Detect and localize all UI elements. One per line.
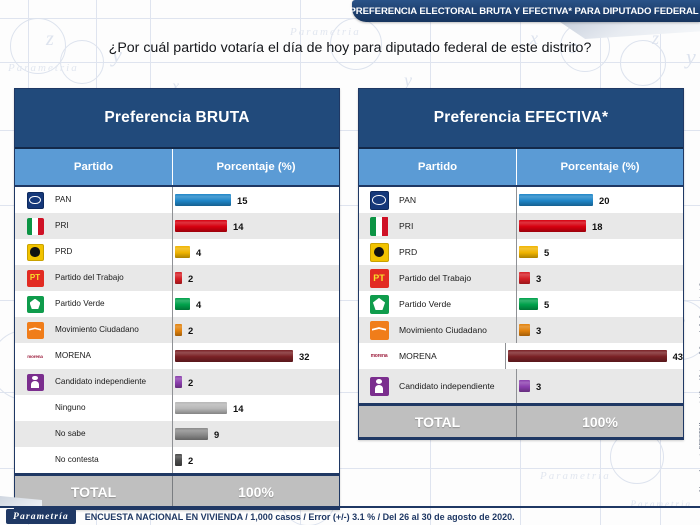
percentage-value: 14 bbox=[233, 403, 243, 414]
cell-porcentaje: 2 bbox=[173, 447, 339, 473]
table-header-row: Partido Porcentaje (%) bbox=[15, 149, 339, 187]
percentage-bar bbox=[519, 324, 530, 336]
cell-partido: PAN bbox=[15, 187, 173, 213]
cell-partido: Partido Verde bbox=[15, 291, 173, 317]
watermark-brand-text: Parametria bbox=[540, 470, 611, 482]
total-value: 100% bbox=[173, 476, 339, 507]
cell-partido: Movimiento Ciudadano bbox=[15, 317, 173, 343]
party-logo bbox=[359, 191, 399, 210]
percentage-value: 3 bbox=[536, 381, 541, 392]
cell-partido: PRI bbox=[359, 213, 517, 239]
party-name-label: MORENA bbox=[55, 351, 93, 361]
party-logo bbox=[359, 377, 399, 396]
percentage-value: 15 bbox=[237, 195, 247, 206]
cell-partido: morenaMORENA bbox=[359, 343, 506, 369]
cell-porcentaje: 14 bbox=[173, 213, 339, 239]
party-name-label: Partido Verde bbox=[399, 299, 453, 309]
cell-partido: PRD bbox=[15, 239, 173, 265]
table-row: Partido Verde5 bbox=[359, 291, 683, 317]
movimiento-ciudadano-logo-icon bbox=[370, 321, 389, 340]
cell-partido: Candidato independiente bbox=[15, 369, 173, 395]
percentage-value: 3 bbox=[536, 325, 541, 336]
pt-logo-icon: PT bbox=[27, 270, 44, 287]
cell-porcentaje: 2 bbox=[173, 369, 339, 395]
party-name-label: No sabe bbox=[55, 429, 88, 439]
no-logo-placeholder bbox=[27, 426, 44, 443]
percentage-value: 18 bbox=[592, 221, 602, 232]
cell-partido: PTPartido del Trabajo bbox=[359, 265, 517, 291]
party-name-label: Partido Verde bbox=[55, 299, 107, 309]
cell-porcentaje: 9 bbox=[173, 421, 339, 447]
table-preferencia-bruta: Preferencia BRUTA Partido Porcentaje (%)… bbox=[14, 88, 340, 510]
cell-porcentaje: 43 bbox=[506, 343, 683, 369]
party-name-label: PRD bbox=[399, 247, 419, 257]
percentage-bar bbox=[175, 272, 182, 284]
percentage-bar bbox=[519, 272, 530, 284]
cell-partido: Candidato independiente bbox=[359, 369, 517, 403]
no-logo-placeholder bbox=[27, 452, 44, 469]
watermark-gridline bbox=[0, 62, 700, 63]
percentage-value: 9 bbox=[214, 429, 219, 440]
table-row: PTPartido del Trabajo2 bbox=[15, 265, 339, 291]
percentage-bar bbox=[175, 454, 182, 466]
movimiento-ciudadano-logo-icon bbox=[27, 322, 44, 339]
party-name-label: Movimiento Ciudadano bbox=[399, 325, 489, 335]
party-logo bbox=[15, 452, 55, 469]
party-name-label: MORENA bbox=[399, 351, 439, 361]
banner-fold-decoration bbox=[560, 22, 700, 39]
percentage-value: 43 bbox=[673, 351, 683, 362]
percentage-bar bbox=[175, 428, 208, 440]
morena-logo-icon: morena bbox=[20, 348, 50, 365]
cell-partido: Movimiento Ciudadano bbox=[359, 317, 517, 343]
party-logo bbox=[15, 218, 55, 235]
cell-porcentaje: 32 bbox=[173, 343, 339, 369]
column-header-porcentaje: Porcentaje (%) bbox=[173, 149, 339, 185]
no-logo-placeholder bbox=[27, 400, 44, 417]
cell-partido: PAN bbox=[359, 187, 517, 213]
column-header-partido: Partido bbox=[359, 149, 517, 185]
cell-partido: PTPartido del Trabajo bbox=[15, 265, 173, 291]
prd-logo-icon bbox=[27, 244, 44, 261]
percentage-value: 5 bbox=[544, 299, 549, 310]
party-logo bbox=[15, 244, 55, 261]
party-logo bbox=[359, 243, 399, 262]
cell-porcentaje: 3 bbox=[517, 265, 683, 291]
cell-porcentaje: 20 bbox=[517, 187, 683, 213]
percentage-value: 32 bbox=[299, 351, 309, 362]
table-row: No contesta2 bbox=[15, 447, 339, 473]
table-preferencia-efectiva: Preferencia EFECTIVA* Partido Porcentaje… bbox=[358, 88, 684, 440]
column-header-partido: Partido bbox=[15, 149, 173, 185]
percentage-bar bbox=[519, 246, 538, 258]
party-name-label: PRI bbox=[55, 221, 71, 231]
cell-partido: No sabe bbox=[15, 421, 173, 447]
table-row: Movimiento Ciudadano3 bbox=[359, 317, 683, 343]
cell-porcentaje: 3 bbox=[517, 369, 683, 403]
party-logo: morena bbox=[15, 348, 55, 365]
cell-partido: PRD bbox=[359, 239, 517, 265]
pri-logo-icon bbox=[27, 218, 44, 235]
table-body: PAN20PRI18PRD5PTPartido del Trabajo3Part… bbox=[359, 187, 683, 403]
party-name-label: No contesta bbox=[55, 455, 101, 465]
cell-porcentaje: 2 bbox=[173, 265, 339, 291]
brand-logo: Parametría bbox=[6, 509, 76, 524]
percentage-bar bbox=[519, 298, 538, 310]
table-row: morenaMORENA43 bbox=[359, 343, 683, 369]
table-title: Preferencia EFECTIVA* bbox=[359, 89, 683, 149]
percentage-value: 5 bbox=[544, 247, 549, 258]
party-name-label: PRD bbox=[55, 247, 74, 257]
party-name-label: Partido del Trabajo bbox=[55, 273, 126, 283]
party-name-label: PAN bbox=[399, 195, 418, 205]
percentage-bar bbox=[175, 194, 231, 206]
total-label: TOTAL bbox=[359, 406, 517, 437]
party-name-label: Candidato independiente bbox=[55, 377, 148, 387]
party-logo bbox=[15, 400, 55, 417]
percentage-value: 14 bbox=[233, 221, 243, 232]
pt-logo-icon: PT bbox=[370, 269, 389, 288]
footer-methodology-text: ENCUESTA NACIONAL EN VIVIENDA / 1,000 ca… bbox=[85, 512, 515, 522]
table-row: PRI14 bbox=[15, 213, 339, 239]
percentage-value: 4 bbox=[196, 247, 201, 258]
percentage-bar bbox=[175, 220, 227, 232]
party-logo: PT bbox=[15, 270, 55, 287]
cell-porcentaje: 14 bbox=[173, 395, 339, 421]
cell-porcentaje: 18 bbox=[517, 213, 683, 239]
party-name-label: Candidato independiente bbox=[399, 381, 497, 391]
pri-logo-icon bbox=[370, 217, 389, 236]
table-row: Ninguno14 bbox=[15, 395, 339, 421]
table-row: morenaMORENA32 bbox=[15, 343, 339, 369]
percentage-bar bbox=[175, 324, 182, 336]
table-row: Candidato independiente3 bbox=[359, 369, 683, 403]
percentage-bar bbox=[175, 376, 182, 388]
header-banner-title: PREFERENCIA ELECTORAL BRUTA Y EFECTIVA* … bbox=[349, 6, 700, 17]
total-value: 100% bbox=[517, 406, 683, 437]
partido-verde-logo-icon bbox=[27, 296, 44, 313]
percentage-value: 20 bbox=[599, 195, 609, 206]
slide-root: zyxozyxyzyxzParametriaParametriaParametr… bbox=[0, 0, 700, 525]
cell-porcentaje: 4 bbox=[173, 239, 339, 265]
party-name-label: PRI bbox=[399, 221, 415, 231]
page-title: ¿Por cuál partido votaría el día de hoy … bbox=[0, 40, 700, 56]
table-row: Movimiento Ciudadano2 bbox=[15, 317, 339, 343]
party-logo bbox=[15, 296, 55, 313]
party-name-label: Partido del Trabajo bbox=[399, 273, 473, 283]
party-name-label: Ninguno bbox=[55, 403, 88, 413]
table-row: PAN20 bbox=[359, 187, 683, 213]
column-header-porcentaje: Porcentaje (%) bbox=[517, 149, 683, 185]
party-logo bbox=[359, 321, 399, 340]
table-row: PAN15 bbox=[15, 187, 339, 213]
table-row: PRD5 bbox=[359, 239, 683, 265]
top-strip bbox=[0, 0, 352, 3]
table-row: PTPartido del Trabajo3 bbox=[359, 265, 683, 291]
party-logo bbox=[359, 217, 399, 236]
percentage-value: 2 bbox=[188, 377, 193, 388]
percentage-bar bbox=[175, 402, 227, 414]
watermark-brand-text: Parametria bbox=[8, 62, 79, 74]
candidato-independiente-logo-icon bbox=[370, 377, 389, 396]
percentage-value: 3 bbox=[536, 273, 541, 284]
percentage-bar bbox=[519, 194, 593, 206]
cell-porcentaje: 15 bbox=[173, 187, 339, 213]
table-total-row: TOTAL 100% bbox=[15, 473, 339, 509]
prd-logo-icon bbox=[370, 243, 389, 262]
cell-partido: Partido Verde bbox=[359, 291, 517, 317]
watermark-brand-text: Parametria bbox=[290, 26, 361, 38]
percentage-value: 2 bbox=[188, 325, 193, 336]
table-row: Partido Verde4 bbox=[15, 291, 339, 317]
cell-porcentaje: 4 bbox=[173, 291, 339, 317]
table-total-row: TOTAL 100% bbox=[359, 403, 683, 439]
cell-partido: Ninguno bbox=[15, 395, 173, 421]
cell-partido: morenaMORENA bbox=[15, 343, 173, 369]
percentage-bar bbox=[508, 350, 667, 362]
party-logo: morena bbox=[359, 347, 399, 366]
party-name-label: PAN bbox=[55, 195, 73, 205]
party-logo bbox=[359, 295, 399, 314]
morena-logo-icon: morena bbox=[364, 347, 394, 366]
table-row: No sabe9 bbox=[15, 421, 339, 447]
cell-partido: PRI bbox=[15, 213, 173, 239]
party-logo: PT bbox=[359, 269, 399, 288]
pan-logo-icon bbox=[27, 192, 44, 209]
table-header-row: Partido Porcentaje (%) bbox=[359, 149, 683, 187]
table-row: PRD4 bbox=[15, 239, 339, 265]
candidato-independiente-logo-icon bbox=[27, 374, 44, 391]
header-banner: PREFERENCIA ELECTORAL BRUTA Y EFECTIVA* … bbox=[352, 0, 700, 22]
percentage-bar bbox=[175, 350, 293, 362]
percentage-value: 2 bbox=[188, 273, 193, 284]
percentage-bar bbox=[175, 246, 190, 258]
party-name-label: Movimiento Ciudadano bbox=[55, 325, 141, 335]
table-row: PRI18 bbox=[359, 213, 683, 239]
percentage-bar bbox=[519, 380, 530, 392]
table-row: Candidato independiente2 bbox=[15, 369, 339, 395]
percentage-value: 4 bbox=[196, 299, 201, 310]
percentage-value: 2 bbox=[188, 455, 193, 466]
cell-porcentaje: 5 bbox=[517, 239, 683, 265]
footer: Parametría ENCUESTA NACIONAL EN VIVIENDA… bbox=[0, 508, 700, 525]
cell-porcentaje: 3 bbox=[517, 317, 683, 343]
percentage-bar bbox=[175, 298, 190, 310]
cell-partido: No contesta bbox=[15, 447, 173, 473]
partido-verde-logo-icon bbox=[370, 295, 389, 314]
party-logo bbox=[15, 322, 55, 339]
cell-porcentaje: 5 bbox=[517, 291, 683, 317]
percentage-bar bbox=[519, 220, 586, 232]
table-title: Preferencia BRUTA bbox=[15, 89, 339, 149]
table-body: PAN15PRI14PRD4PTPartido del Trabajo2Part… bbox=[15, 187, 339, 473]
cell-porcentaje: 2 bbox=[173, 317, 339, 343]
party-logo bbox=[15, 426, 55, 443]
party-logo bbox=[15, 374, 55, 391]
party-logo bbox=[15, 192, 55, 209]
pan-logo-icon bbox=[370, 191, 389, 210]
